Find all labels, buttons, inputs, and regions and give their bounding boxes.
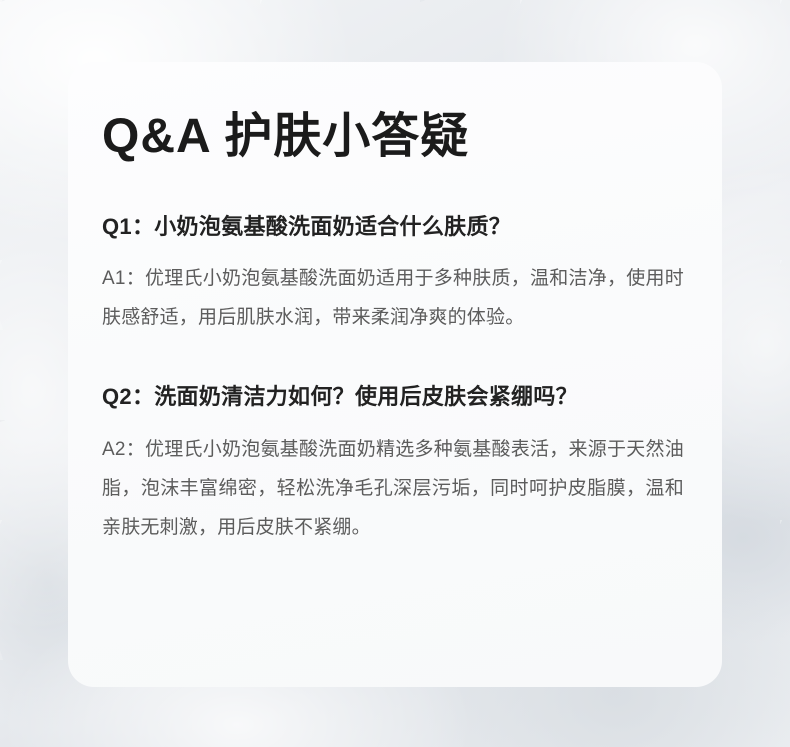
qa-item-1: Q1：小奶泡氨基酸洗面奶适合什么肤质？ A1：优理氏小奶泡氨基酸洗面奶适用于多种…: [102, 212, 684, 339]
question-1: Q1：小奶泡氨基酸洗面奶适合什么肤质？: [102, 212, 684, 243]
answer-2: A2：优理氏小奶泡氨基酸洗面奶精选多种氨基酸表活，来源于天然油脂，泡沫丰富绵密，…: [102, 431, 684, 548]
page-background: Q&A 护肤小答疑 Q1：小奶泡氨基酸洗面奶适合什么肤质？ A1：优理氏小奶泡氨…: [0, 0, 790, 747]
page-title: Q&A 护肤小答疑: [102, 108, 684, 166]
qa-card: Q&A 护肤小答疑 Q1：小奶泡氨基酸洗面奶适合什么肤质？ A1：优理氏小奶泡氨…: [68, 62, 722, 687]
question-2: Q2：洗面奶清洁力如何？使用后皮肤会紧绷吗？: [102, 382, 684, 413]
qa-item-2: Q2：洗面奶清洁力如何？使用后皮肤会紧绷吗？ A2：优理氏小奶泡氨基酸洗面奶精选…: [102, 382, 684, 548]
answer-1: A1：优理氏小奶泡氨基酸洗面奶适用于多种肤质，温和洁净，使用时肤感舒适，用后肌肤…: [102, 260, 684, 338]
